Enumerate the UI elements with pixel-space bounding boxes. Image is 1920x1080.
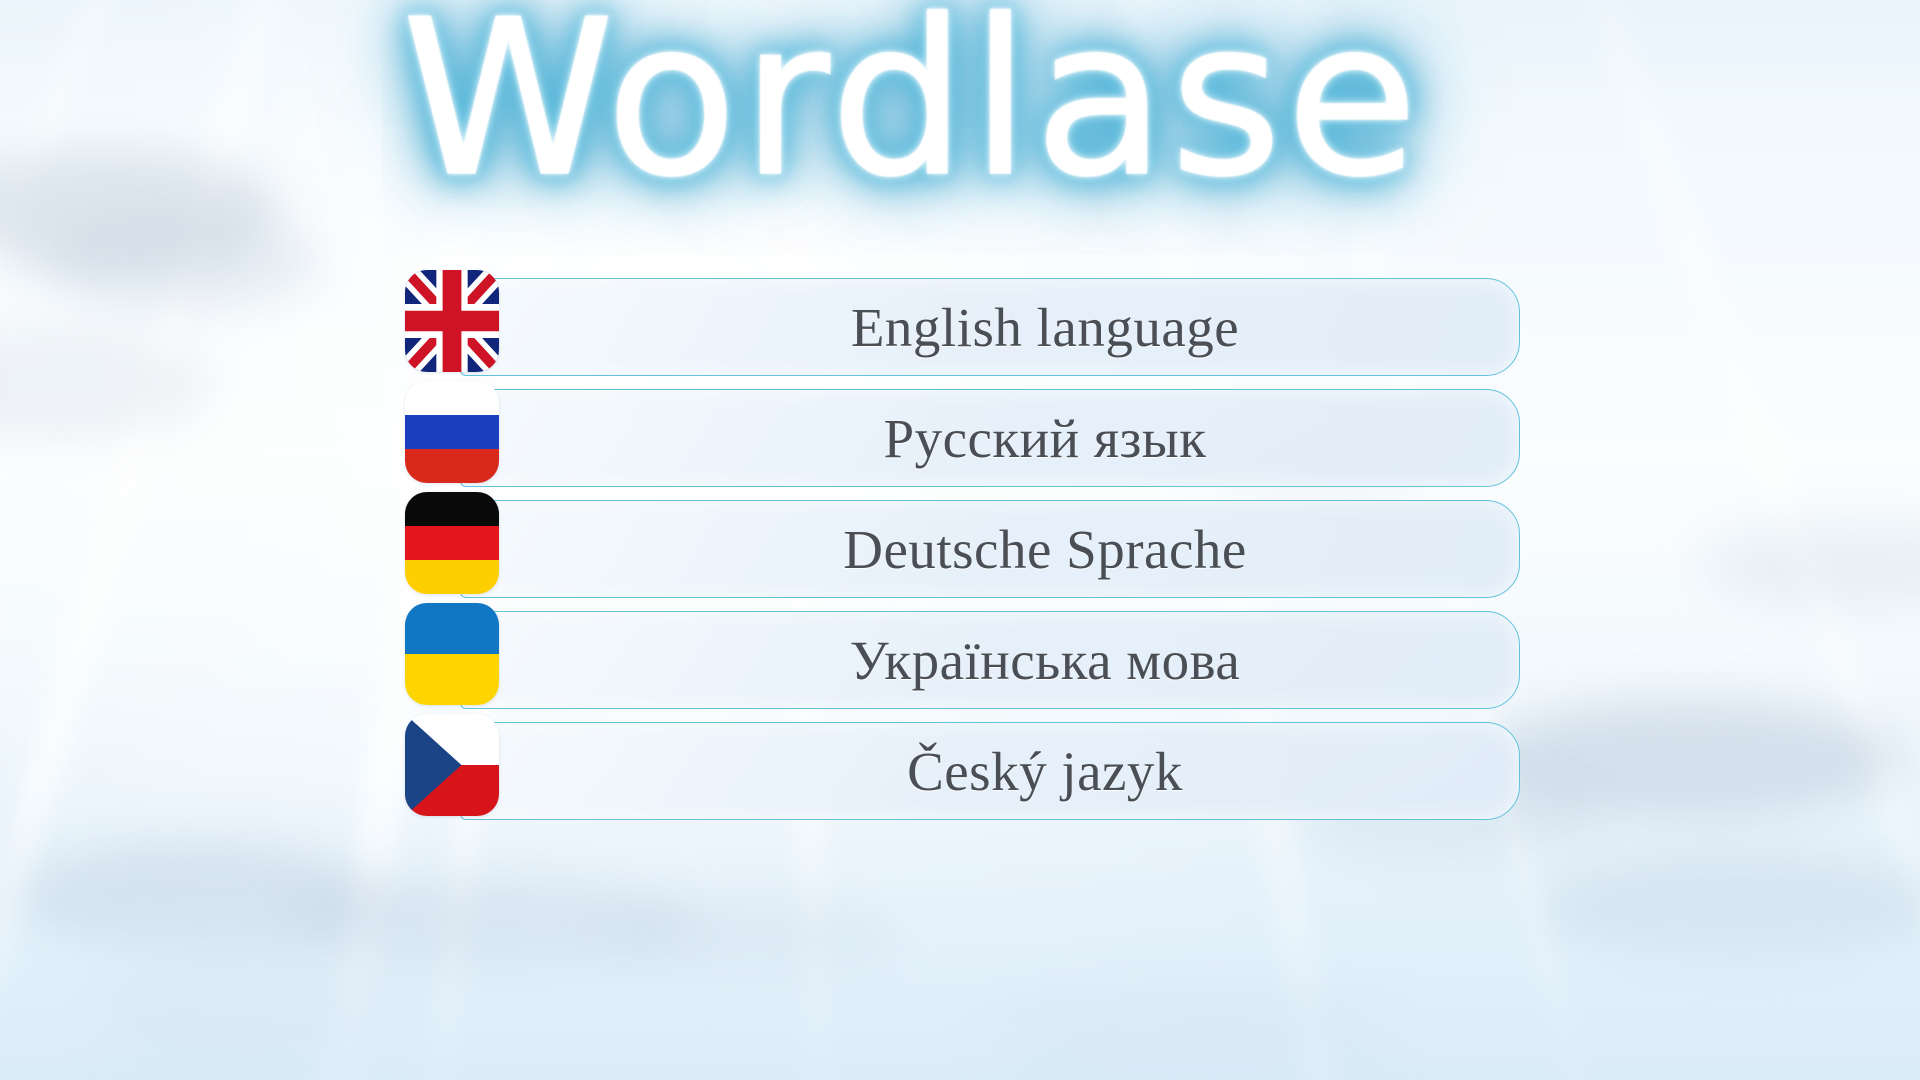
language-menu: English language Русский язык <box>405 268 1520 823</box>
cloud <box>980 980 1400 1070</box>
language-button-german[interactable]: Deutsche Sprache <box>460 500 1520 598</box>
list-item[interactable]: Český jazyk <box>405 712 1520 822</box>
flag-ukraine-icon[interactable] <box>405 603 499 705</box>
flag-czech-republic-icon[interactable] <box>405 714 499 816</box>
language-label: Українська мова <box>740 629 1240 692</box>
list-item[interactable]: Deutsche Sprache <box>405 490 1520 600</box>
language-button-english[interactable]: English language <box>460 278 1520 376</box>
language-button-czech[interactable]: Český jazyk <box>460 722 1520 820</box>
cloud <box>1540 855 1920 965</box>
cloud <box>0 330 210 440</box>
list-item[interactable]: Українська мова <box>405 601 1520 711</box>
language-button-russian[interactable]: Русский язык <box>460 389 1520 487</box>
language-button-ukrainian[interactable]: Українська мова <box>460 611 1520 709</box>
list-item[interactable]: English language <box>405 268 1520 378</box>
cloud <box>90 960 410 1055</box>
language-label: Deutsche Sprache <box>733 518 1247 581</box>
cloud <box>600 900 900 980</box>
flag-russia-icon[interactable] <box>405 381 499 483</box>
app-screen: Wordlase English language Русск <box>0 0 1920 1080</box>
cloud <box>40 215 320 310</box>
language-label: Český jazyk <box>797 740 1183 803</box>
flag-germany-icon[interactable] <box>405 492 499 594</box>
cloud <box>1700 520 1920 610</box>
language-label: English language <box>741 296 1239 359</box>
language-label: Русский язык <box>774 407 1207 470</box>
flag-united-kingdom-icon[interactable] <box>405 270 499 372</box>
list-item[interactable]: Русский язык <box>405 379 1520 489</box>
